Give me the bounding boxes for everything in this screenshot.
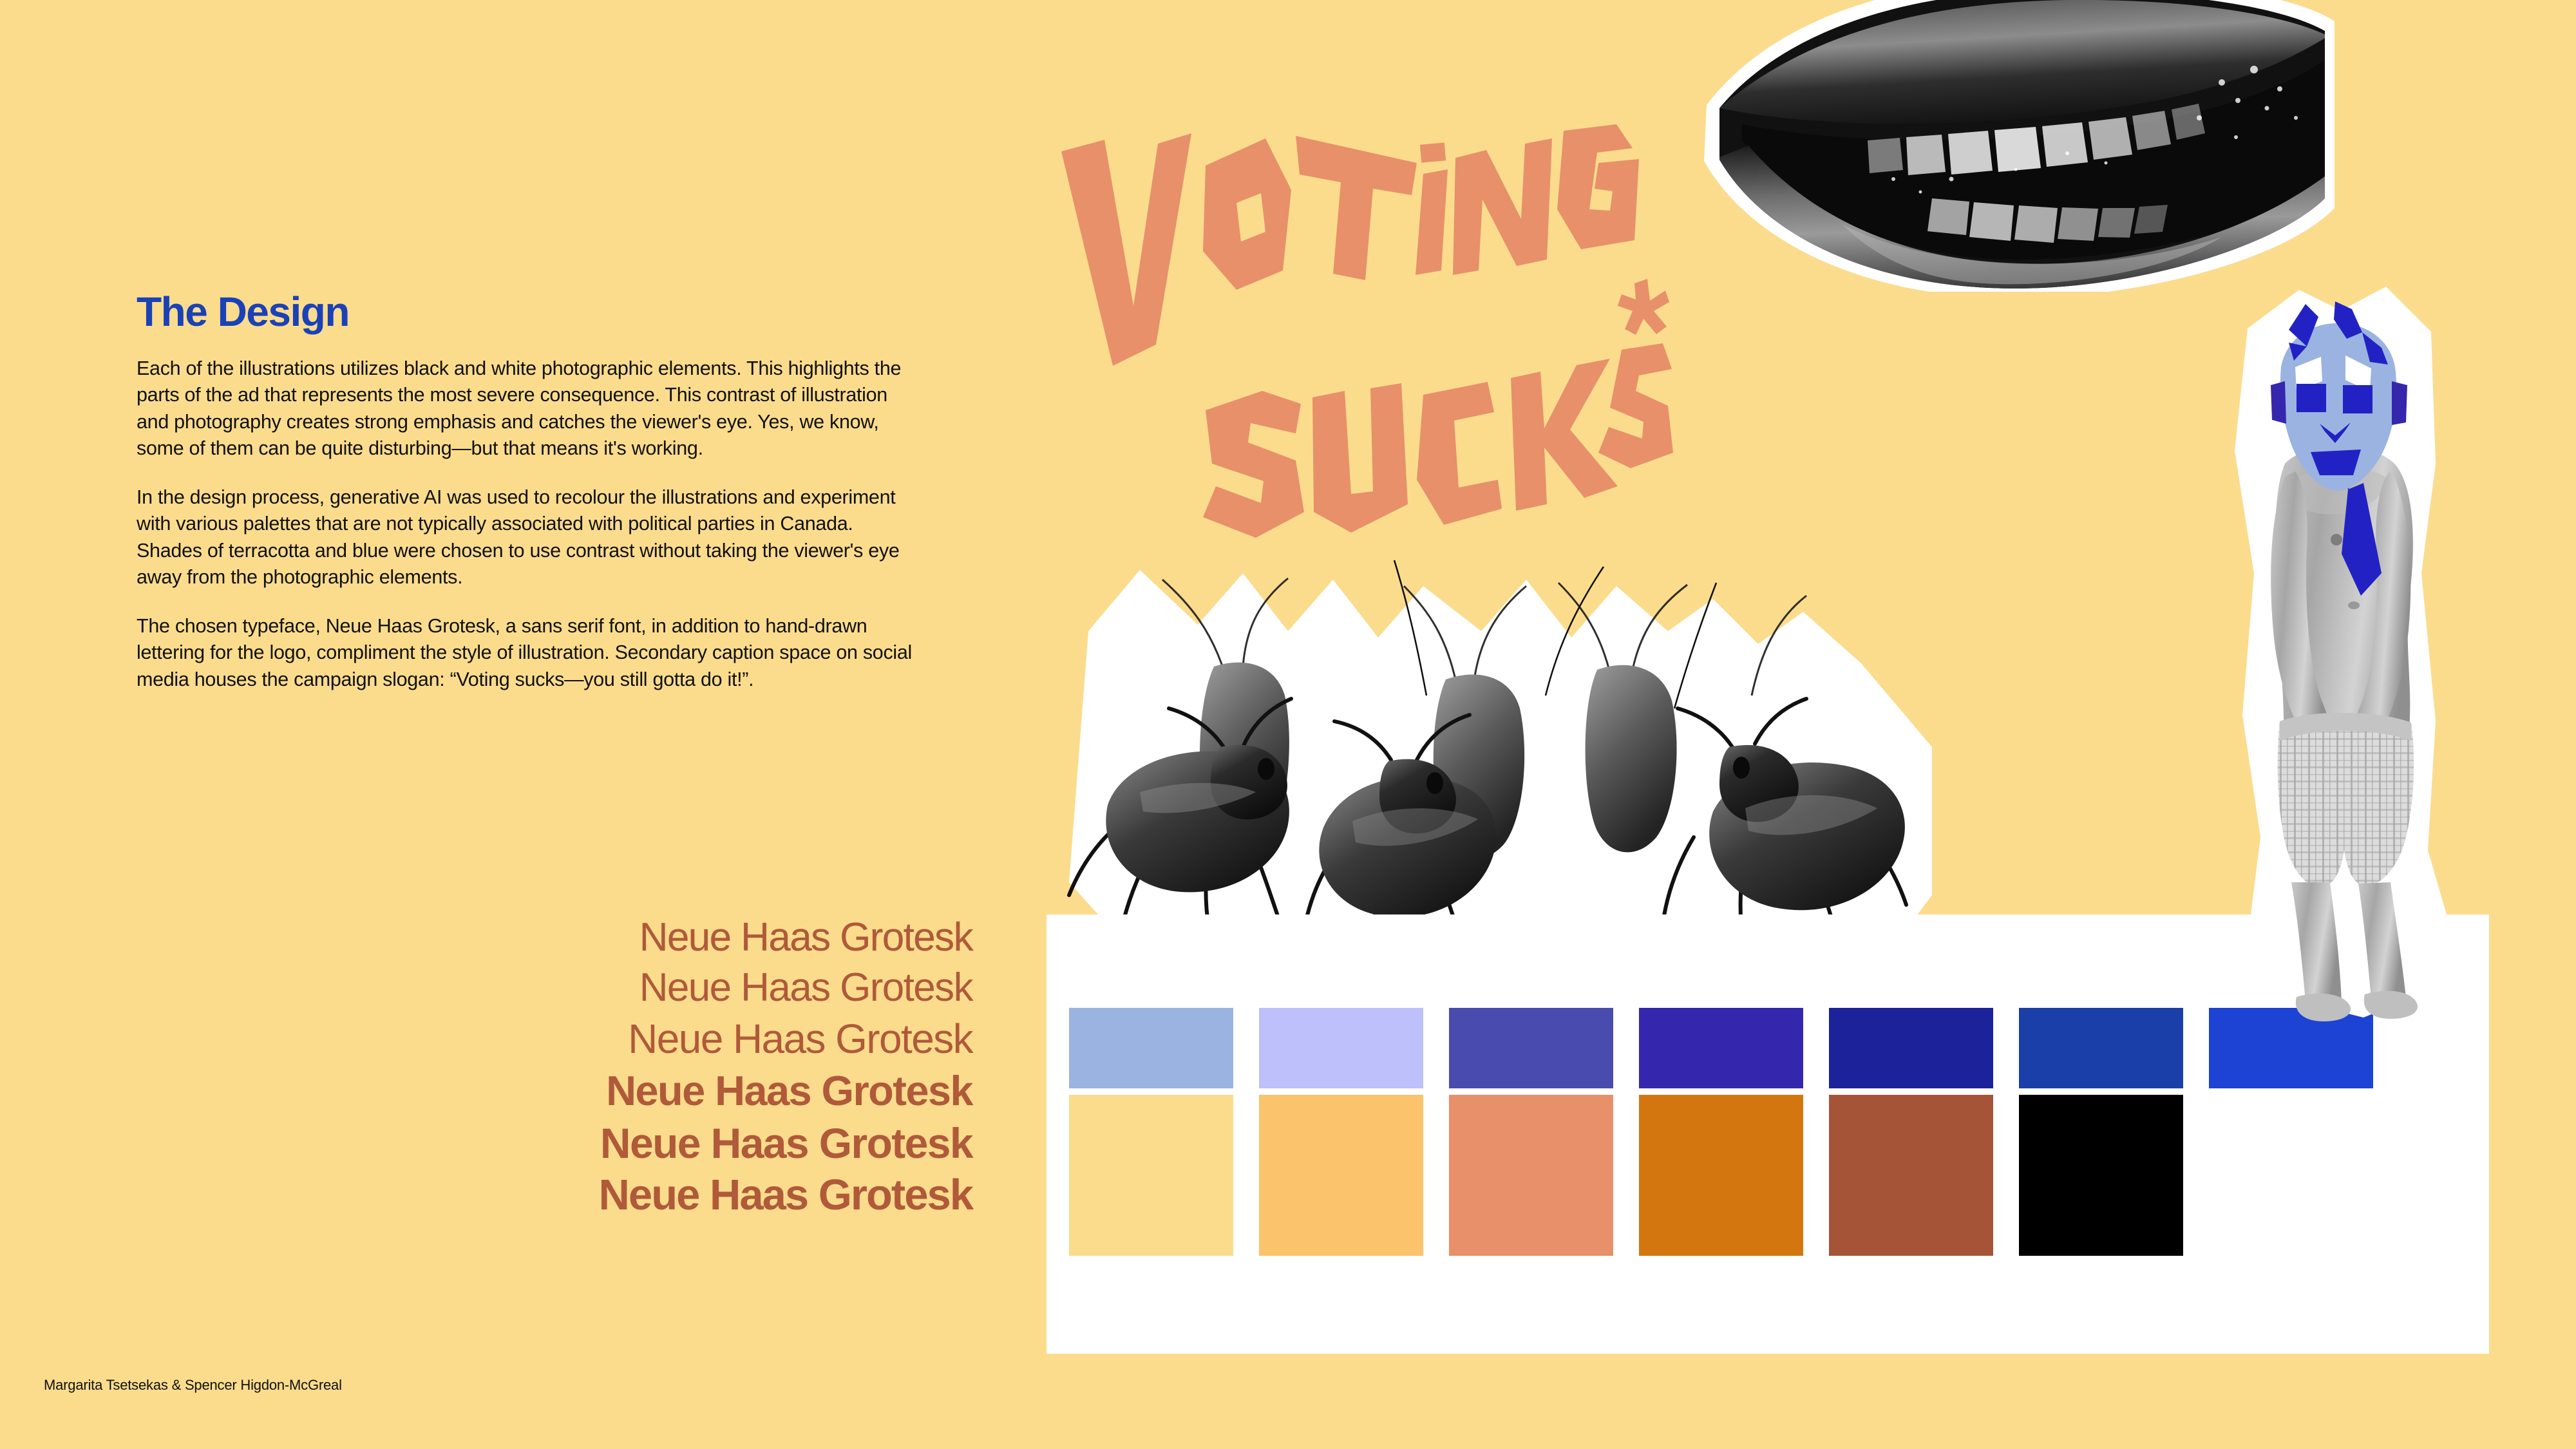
blue-head-figure [2209,270,2467,1043]
swatch-pale-periwinkle [1259,1008,1423,1088]
credit-line: Margarita Tsetsekas & Spencer Higdon-McG… [44,1377,342,1394]
swatch-salmon [1449,1095,1613,1256]
swatch-empty-slot [2209,1095,2373,1256]
design-text-column: The Design Each of the illustrations uti… [137,291,922,693]
type-specimen-line-heavy: Neue Haas Grotesk [322,1122,972,1164]
body-paragraph-3: The chosen typeface, Neue Haas Grotesk, … [137,613,922,693]
palette-row-blue [1069,1008,2373,1088]
type-specimen-line-black: Neue Haas Grotesk [322,1173,972,1217]
design-board-page: The Design Each of the illustrations uti… [0,0,2576,1449]
type-specimen-line-regular: Neue Haas Grotesk [322,1018,972,1059]
swatch-terracotta-brown [1829,1095,1993,1256]
swatch-orange [1639,1095,1803,1256]
swatch-light-steel-blue [1069,1008,1233,1088]
body-paragraph-2: In the design process, generative AI was… [137,484,922,591]
page-title: The Design [137,291,922,332]
cockroach-collage [1030,535,1971,960]
mouth-photo-cutout [1681,0,2334,292]
swatch-medium-indigo [1449,1008,1613,1088]
voting-sucks-logo [1043,113,1674,473]
swatch-navy [1829,1008,1993,1088]
type-specimen-line-bold: Neue Haas Grotesk [322,1070,972,1112]
swatch-light-orange [1259,1095,1423,1256]
type-specimen-line-thin: Neue Haas Grotesk [322,918,972,958]
swatch-deep-indigo [1639,1008,1803,1088]
type-specimen-line-light: Neue Haas Grotesk [322,968,972,1008]
swatch-black [2019,1095,2183,1256]
palette-row-warm [1069,1095,2373,1256]
body-paragraph-1: Each of the illustrations utilizes black… [137,355,922,462]
swatch-cream [1069,1095,1233,1256]
type-specimen-stack: Neue Haas Grotesk Neue Haas Grotesk Neue… [322,918,972,1217]
swatch-royal-blue [2019,1008,2183,1088]
